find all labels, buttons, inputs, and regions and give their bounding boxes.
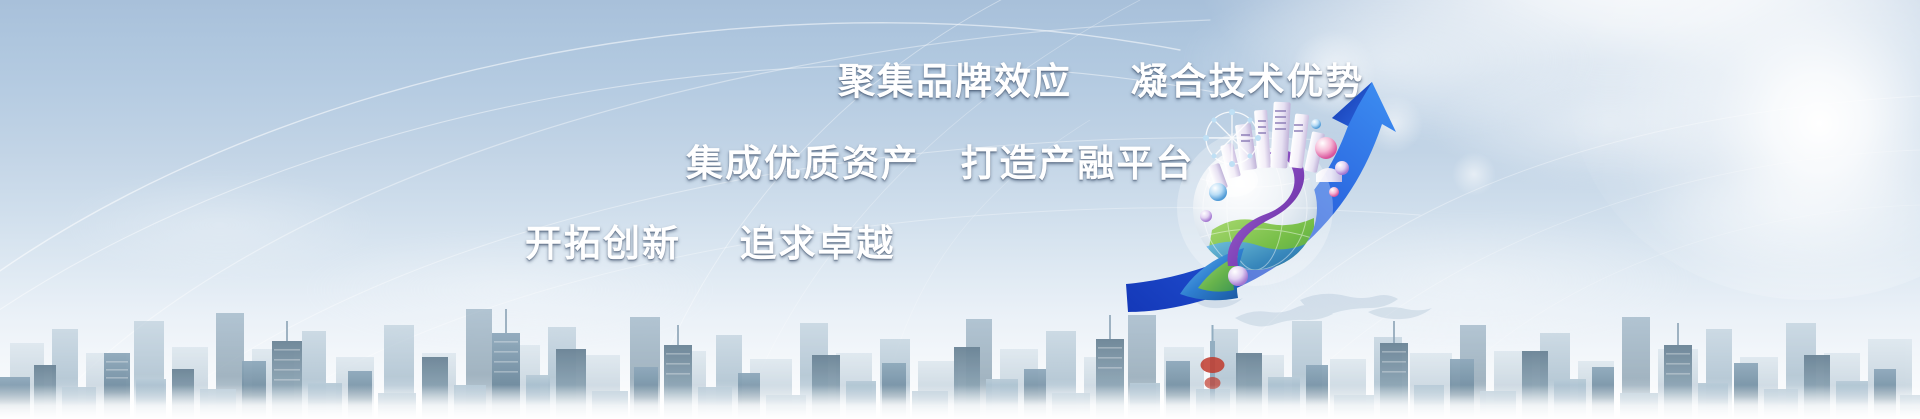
cloud-wisp <box>300 230 720 350</box>
globe-and-arrow-artwork <box>1120 80 1460 320</box>
faint-world-map-icon <box>0 0 1920 419</box>
cloud-wisp <box>1430 60 1790 190</box>
sky-layer <box>0 0 1920 419</box>
headline-line-3-left: 开拓创新 <box>525 223 681 264</box>
ground-fade <box>0 385 1920 419</box>
sun-flare-icon <box>1570 0 1920 300</box>
headline-line-2-left: 集成优质资产 <box>686 143 920 184</box>
headline-group: 聚集品牌效应 凝合技术优势 集成优质资产 打造产融平台 开拓创新 追求卓越 <box>0 0 1920 419</box>
cloud-wisp <box>1640 150 1920 270</box>
headline-line-3: 开拓创新 追求卓越 <box>525 213 896 267</box>
cloud-wisp <box>60 170 380 280</box>
skyline-window-texture <box>106 341 1690 381</box>
network-arcs <box>0 0 1920 419</box>
headline-line-1-left: 聚集品牌效应 <box>838 61 1072 102</box>
hero-banner: 聚集品牌效应 凝合技术优势 集成优质资产 打造产融平台 开拓创新 追求卓越 <box>0 0 1920 419</box>
headline-line-2: 集成优质资产 打造产融平台 <box>686 133 1195 187</box>
headline-line-3-right: 追求卓越 <box>740 223 896 264</box>
skyline-spires <box>287 309 1678 345</box>
